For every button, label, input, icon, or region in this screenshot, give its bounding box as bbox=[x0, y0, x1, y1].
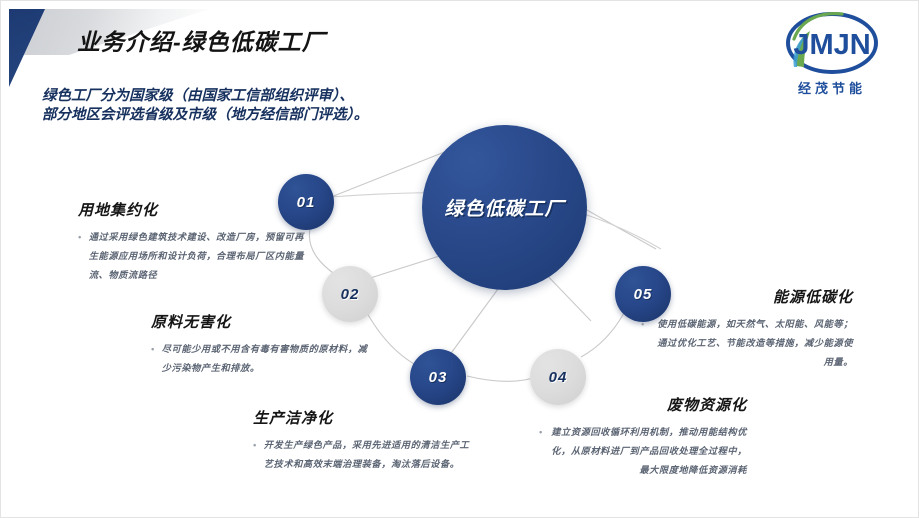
node-04-number: 04 bbox=[549, 369, 568, 386]
info-block-04-text: 建立资源回收循环利用机制，推动用能结构优化，从原材料进厂到产品回收处理全过程中，… bbox=[550, 423, 747, 480]
info-block-03-text: 开发生产绿色产品，采用先进适用的清洁生产工艺技术和高效末端治理装备，淘汰落后设备… bbox=[264, 436, 473, 474]
info-block-03: 生产洁净化 • 开发生产绿色产品，采用先进适用的清洁生产工艺技术和高效末端治理装… bbox=[253, 407, 473, 474]
bullet-icon: • bbox=[78, 228, 82, 247]
bullet-icon: • bbox=[253, 436, 257, 455]
subtitle-line-2: 部分地区会评选省级及市级（地方经信部门评选）。 bbox=[42, 106, 368, 125]
info-block-05: 能源低碳化 • 使用低碳能源，如天然气、太阳能、风能等；通过优化工艺、节能改造等… bbox=[641, 286, 853, 372]
subtitle-line-1: 绿色工厂分为国家级（由国家工信部组织评审）、 bbox=[42, 87, 368, 106]
info-block-05-heading: 能源低碳化 bbox=[641, 286, 853, 307]
bullet-icon: • bbox=[151, 340, 155, 359]
bullet-icon: • bbox=[641, 315, 645, 334]
center-node: 绿色低碳工厂 bbox=[422, 125, 587, 290]
info-block-04-body: • 建立资源回收循环利用机制，推动用能结构优化，从原材料进厂到产品回收处理全过程… bbox=[539, 423, 747, 480]
info-block-05-text: 使用低碳能源，如天然气、太阳能、风能等；通过优化工艺、节能改造等措施，减少能源使… bbox=[652, 315, 853, 372]
info-block-01: 用地集约化 • 通过采用绿色建筑技术建设、改造厂房，预留可再生能源应用场所和设计… bbox=[78, 199, 306, 285]
info-block-04: 废物资源化 • 建立资源回收循环利用机制，推动用能结构优化，从原材料进厂到产品回… bbox=[539, 394, 747, 480]
info-block-03-heading: 生产洁净化 bbox=[253, 407, 473, 428]
info-block-02-body: • 尽可能少用或不用含有毒有害物质的原材料，减少污染物产生和排放。 bbox=[151, 340, 373, 378]
info-block-01-heading: 用地集约化 bbox=[78, 199, 306, 220]
info-block-05-body: • 使用低碳能源，如天然气、太阳能、风能等；通过优化工艺、节能改造等措施，减少能… bbox=[641, 315, 853, 372]
info-block-02-heading: 原料无害化 bbox=[151, 311, 373, 332]
logo-ellipse-icon: JMJN bbox=[780, 9, 884, 77]
node-03[interactable]: 03 bbox=[410, 349, 466, 405]
node-03-number: 03 bbox=[429, 369, 448, 386]
page-title: 业务介绍-绿色低碳工厂 bbox=[77, 23, 326, 57]
info-block-02: 原料无害化 • 尽可能少用或不用含有毒有害物质的原材料，减少污染物产生和排放。 bbox=[151, 311, 373, 378]
info-block-01-text: 通过采用绿色建筑技术建设、改造厂房，预留可再生能源应用场所和设计负荷，合理布局厂… bbox=[89, 228, 306, 285]
node-02-number: 02 bbox=[341, 286, 360, 303]
logo-mark-text: JMJN bbox=[793, 29, 870, 61]
info-block-04-heading: 废物资源化 bbox=[539, 394, 747, 415]
company-logo: JMJN 经茂节能 bbox=[768, 9, 896, 113]
center-node-label: 绿色低碳工厂 bbox=[444, 194, 564, 221]
slide: 业务介绍-绿色低碳工厂 绿色工厂分为国家级（由国家工信部组织评审）、 部分地区会… bbox=[0, 0, 919, 518]
info-block-02-text: 尽可能少用或不用含有毒有害物质的原材料，减少污染物产生和排放。 bbox=[162, 340, 373, 378]
bullet-icon: • bbox=[539, 423, 543, 442]
info-block-01-body: • 通过采用绿色建筑技术建设、改造厂房，预留可再生能源应用场所和设计负荷，合理布… bbox=[78, 228, 306, 285]
company-name: 经茂节能 bbox=[798, 78, 866, 97]
subtitle-paragraph: 绿色工厂分为国家级（由国家工信部组织评审）、 部分地区会评选省级及市级（地方经信… bbox=[42, 87, 368, 125]
info-block-03-body: • 开发生产绿色产品，采用先进适用的清洁生产工艺技术和高效末端治理装备，淘汰落后… bbox=[253, 436, 473, 474]
